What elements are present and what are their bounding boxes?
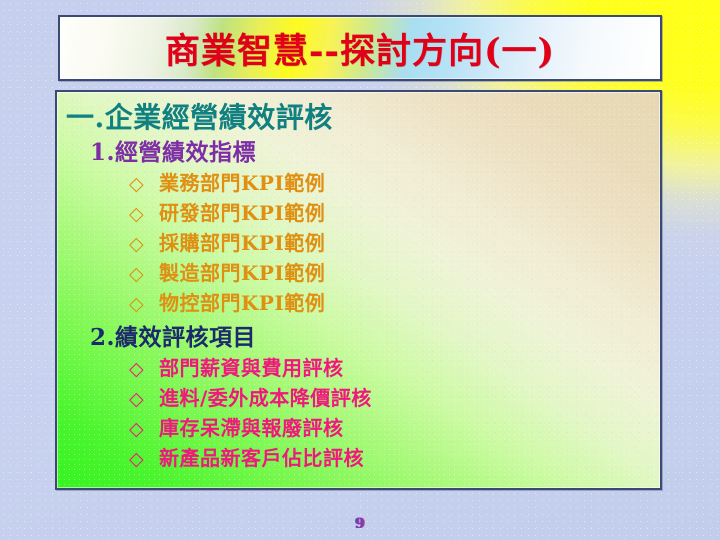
diamond-bullet-icon: ◇ [129,290,159,319]
list-item: ◇ 業務部門KPI範例 [129,169,660,199]
list-item-label: 新產品新客戶佔比評核 [159,444,364,473]
list-item: ◇ 物控部門KPI範例 [129,289,660,319]
list-item-label: 採購部門KPI範例 [159,229,325,258]
list-item-label: 物控部門KPI範例 [159,289,325,318]
diamond-bullet-icon: ◇ [129,170,159,199]
slide-title-box: 商業智慧--探討方向(一) [58,15,662,81]
list-item: ◇ 進料/委外成本降價評核 [129,384,660,414]
outline-list: 一.企業經營績效評核 1.經營績效指標 ◇ 業務部門KPI範例 ◇ 研發部門KP… [57,92,660,474]
list-item: ◇ 研發部門KPI範例 [129,199,660,229]
presentation-slide: 商業智慧--探討方向(一) 一.企業經營績效評核 1.經營績效指標 ◇ 業務部門… [0,0,720,540]
diamond-bullet-icon: ◇ [129,445,159,474]
diamond-bullet-icon: ◇ [129,415,159,444]
page-number: 9 [0,516,720,532]
list-item: ◇ 新產品新客戶佔比評核 [129,444,660,474]
section-1-heading: 一.企業經營績效評核 [66,100,660,136]
list-item: ◇ 庫存呆滯與報廢評核 [129,414,660,444]
list-item-label: 進料/委外成本降價評核 [159,384,372,413]
list-item-label: 業務部門KPI範例 [159,169,325,198]
page-title: 商業智慧--探討方向(一) [165,23,555,74]
list-item-label: 庫存呆滯與報廢評核 [159,414,344,443]
diamond-bullet-icon: ◇ [129,230,159,259]
diamond-bullet-icon: ◇ [129,260,159,289]
list-item-label: 製造部門KPI範例 [159,259,325,288]
subsection-2-heading: 2.績效評核項目 [90,321,660,354]
slide-content-box: 一.企業經營績效評核 1.經營績效指標 ◇ 業務部門KPI範例 ◇ 研發部門KP… [55,90,662,490]
diamond-bullet-icon: ◇ [129,200,159,229]
list-item: ◇ 採購部門KPI範例 [129,229,660,259]
diamond-bullet-icon: ◇ [129,385,159,414]
list-item: ◇ 製造部門KPI範例 [129,259,660,289]
diamond-bullet-icon: ◇ [129,355,159,384]
list-item-label: 研發部門KPI範例 [159,199,325,228]
list-item: ◇ 部門薪資與費用評核 [129,354,660,384]
subsection-1-heading: 1.經營績效指標 [90,136,660,169]
list-item-label: 部門薪資與費用評核 [159,354,344,383]
